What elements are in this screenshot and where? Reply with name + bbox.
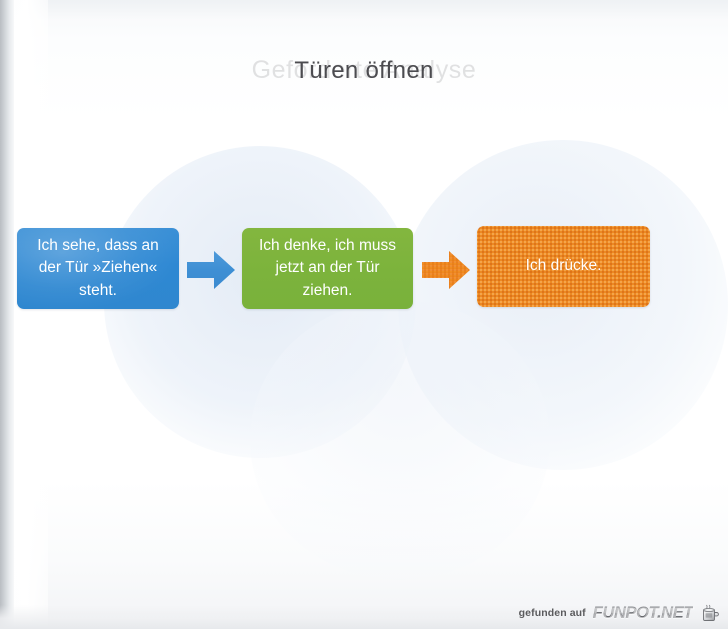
- flow-node-thought: Ich denke, ich muss jetzt an der Tür zie…: [242, 228, 413, 309]
- watermark-brand: FUNPOT.NET: [593, 604, 693, 623]
- flow-node-thought-label: Ich denke, ich muss jetzt an der Tür zie…: [252, 235, 403, 302]
- flow-node-perception: Ich sehe, dass an der Tür »Ziehen« steht…: [17, 228, 179, 309]
- flow-arrow-1: [185, 247, 237, 293]
- funpot-mug-icon: [700, 603, 720, 623]
- flow-node-perception-label: Ich sehe, dass an der Tür »Ziehen« steht…: [27, 235, 169, 302]
- flow-node-action-label: Ich drücke.: [526, 255, 602, 277]
- scanned-page: Geforderte Analyse Türen öffnen Ich sehe…: [0, 0, 728, 629]
- flow-arrow-2: [420, 247, 472, 293]
- block-arrow-right-icon: [420, 247, 472, 293]
- watermark-footer: gefunden auf FUNPOT.NET: [519, 602, 720, 624]
- block-arrow-right-icon: [185, 247, 237, 293]
- flow-node-action: Ich drücke.: [477, 226, 650, 307]
- watermark-prefix: gefunden auf: [519, 607, 586, 619]
- flowchart: Ich sehe, dass an der Tür »Ziehen« steht…: [0, 0, 728, 629]
